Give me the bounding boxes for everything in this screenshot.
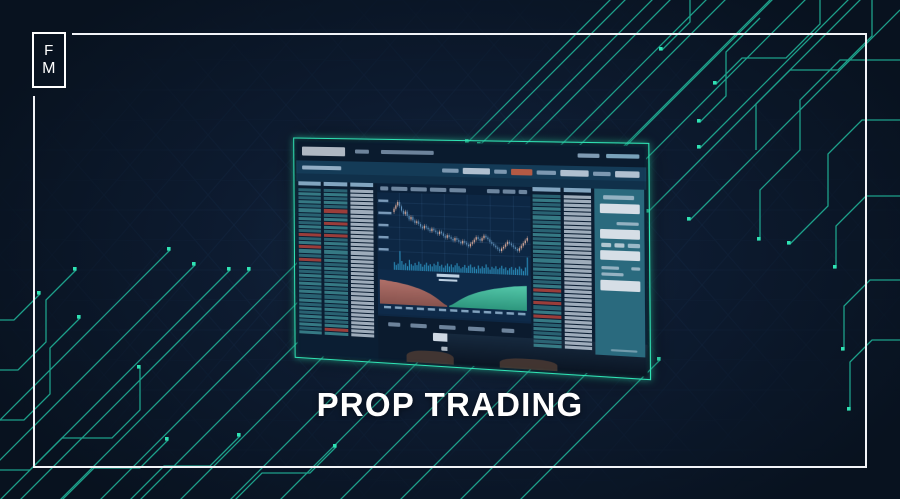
- form-label-5: [502, 328, 515, 333]
- order-summary-line-2: [601, 272, 623, 276]
- left-depth-ladders: [298, 181, 374, 360]
- order-field-price[interactable]: [600, 250, 640, 261]
- chart-tool-1[interactable]: [487, 188, 500, 192]
- quote-label-4: [537, 170, 556, 175]
- lower-form-panel: [378, 316, 532, 370]
- chart-ohlc-l: [430, 187, 446, 192]
- quote-label-5: [593, 171, 611, 176]
- ladder-row[interactable]: [324, 197, 347, 201]
- ladder-row[interactable]: [351, 333, 374, 337]
- menu-item-1[interactable]: [355, 149, 369, 153]
- ladder-column-2[interactable]: [324, 182, 348, 358]
- ladder-row[interactable]: [325, 332, 348, 336]
- profit-area-chart[interactable]: [378, 269, 532, 322]
- logo-letter-f: F: [44, 43, 54, 58]
- ladder-row[interactable]: [350, 198, 373, 202]
- dashboard-body: [296, 181, 647, 377]
- trading-dashboard-image: [296, 141, 648, 377]
- quote-value-1: [463, 167, 490, 174]
- quote-value-4: [615, 170, 640, 177]
- order-panel-footer: [611, 349, 638, 353]
- chart-ohlc-c: [449, 188, 466, 193]
- order-toggle-sell[interactable]: [614, 243, 624, 248]
- ladder-column-1[interactable]: [298, 181, 322, 356]
- order-summary-value: [631, 267, 640, 271]
- form-label-4: [468, 326, 485, 331]
- logo-letter-m: M: [42, 61, 56, 77]
- order-panel-title: [603, 195, 634, 200]
- menu-item-2[interactable]: [381, 150, 434, 155]
- ladder-row[interactable]: [350, 194, 373, 198]
- order-submit-button[interactable]: [600, 280, 640, 292]
- ladder-row[interactable]: [564, 346, 592, 351]
- quote-label-1: [302, 165, 341, 170]
- main-chart-panel: [377, 183, 531, 369]
- chart-tool-3[interactable]: [519, 189, 528, 193]
- form-label-2: [410, 323, 426, 328]
- quote-value-3: [560, 169, 588, 176]
- ladder-row[interactable]: [298, 192, 321, 196]
- form-label-1: [388, 322, 400, 327]
- order-label-quantity: [617, 222, 639, 226]
- ladder-row[interactable]: [324, 189, 347, 193]
- ladder-row[interactable]: [350, 202, 373, 206]
- ladder-row[interactable]: [533, 199, 560, 203]
- ladder-row[interactable]: [299, 331, 322, 335]
- account-badge[interactable]: [606, 154, 639, 159]
- ladder-column-4[interactable]: [532, 187, 561, 371]
- ladder-row[interactable]: [324, 193, 347, 197]
- ladder-row[interactable]: [533, 194, 560, 198]
- chart-symbol: [380, 186, 388, 190]
- dashboard-screen: [296, 141, 648, 377]
- form-label-3: [439, 325, 456, 330]
- search-pill[interactable]: [302, 146, 345, 156]
- ladder-row[interactable]: [563, 199, 591, 203]
- order-entry-panel: [594, 189, 645, 358]
- banner-canvas: F M PROP TRADING: [0, 0, 900, 499]
- ladder-row[interactable]: [350, 190, 373, 194]
- chart-ohlc-h: [410, 187, 426, 191]
- order-toggle-type[interactable]: [628, 244, 640, 249]
- menu-item-3[interactable]: [578, 153, 600, 158]
- quote-label-2: [442, 168, 459, 172]
- ladder-row[interactable]: [563, 195, 591, 199]
- order-summary-line-1: [601, 266, 619, 270]
- area-chart-svg: [378, 269, 532, 322]
- page-title: PROP TRADING: [0, 386, 900, 424]
- ladder-row[interactable]: [298, 188, 321, 192]
- ladder-column-3[interactable]: [350, 183, 374, 360]
- ladder-column-5[interactable]: [563, 188, 592, 374]
- chart-ohlc-o: [391, 186, 407, 190]
- order-toggle-buy[interactable]: [601, 243, 611, 248]
- quote-value-2: [511, 168, 532, 175]
- ladder-row[interactable]: [298, 196, 321, 200]
- order-field-quantity[interactable]: [600, 229, 640, 240]
- finance-magnates-logo: F M: [32, 32, 66, 88]
- ladder-row[interactable]: [534, 344, 561, 349]
- chart-tool-2[interactable]: [503, 189, 516, 193]
- right-depth-ladders: [532, 187, 592, 373]
- quote-label-3: [494, 169, 507, 173]
- order-field-symbol[interactable]: [600, 203, 640, 214]
